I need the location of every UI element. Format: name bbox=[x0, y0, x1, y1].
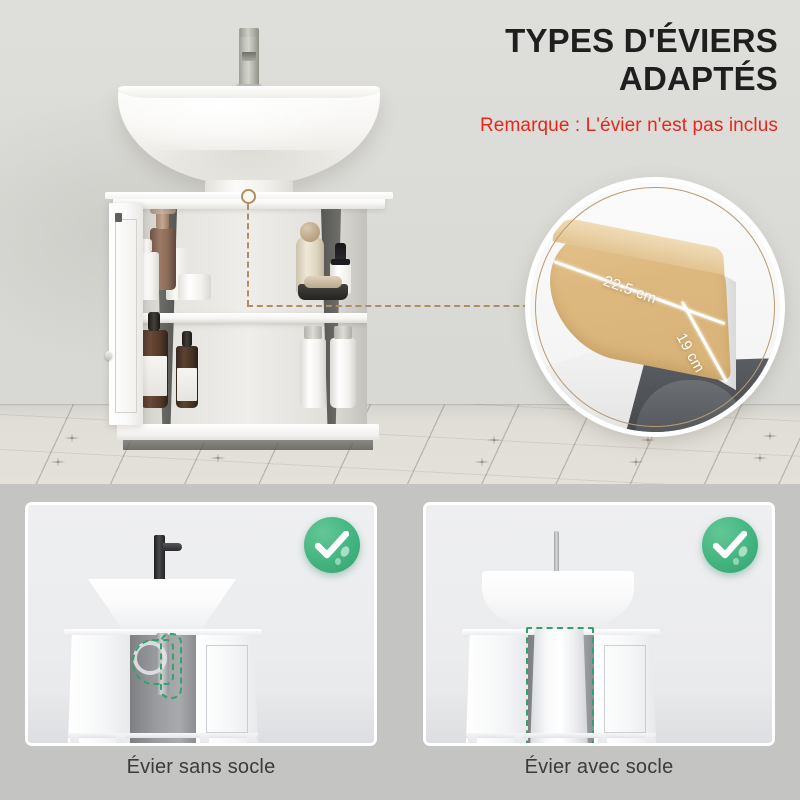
tile-intersection-marker bbox=[207, 447, 229, 469]
tile-intersection-marker bbox=[749, 447, 771, 469]
caption-sans-socle: Évier sans socle bbox=[25, 756, 377, 779]
sink-bowl-rim bbox=[118, 86, 380, 98]
mini-leg bbox=[247, 733, 256, 746]
comparison-panel-sans-socle bbox=[25, 502, 377, 746]
toiletry-amber-bottle-small bbox=[176, 346, 198, 408]
badge-gloss-small bbox=[733, 558, 739, 565]
highlight-outline-pipe bbox=[160, 633, 182, 699]
faucet-cap bbox=[240, 28, 258, 37]
highlight-outline-pedestal bbox=[526, 627, 594, 746]
comparison-section: Évier sans socle bbox=[0, 484, 800, 800]
faucet-spout bbox=[242, 52, 256, 61]
mini-leg bbox=[645, 733, 654, 746]
infographic-root: 22.5 cm 19 cm TYPES D'ÉVIERS ADAPTÉS Rem… bbox=[0, 0, 800, 800]
mini-legs-group bbox=[466, 733, 656, 746]
mini-legs-group bbox=[68, 733, 258, 746]
toiletry-white-bottle-2 bbox=[330, 338, 356, 408]
callout-leader-vertical bbox=[247, 204, 249, 306]
mini-leg bbox=[514, 733, 523, 746]
mini-cabinet-right bbox=[196, 635, 258, 743]
page-title-line-1: TYPES D'ÉVIERS bbox=[400, 22, 778, 60]
mini-leg bbox=[598, 733, 607, 746]
tile-intersection-marker bbox=[47, 451, 69, 473]
mini-sink-bowl bbox=[482, 571, 634, 633]
mini-leg bbox=[70, 733, 79, 746]
comparison-panel-avec-socle bbox=[423, 502, 775, 746]
status-badge-approved bbox=[304, 517, 360, 573]
mini-cabinet-right bbox=[594, 635, 656, 743]
hero-product-scene: 22.5 cm 19 cm TYPES D'ÉVIERS ADAPTÉS Rem… bbox=[0, 0, 800, 484]
door-knob bbox=[105, 351, 112, 360]
tile-intersection-marker bbox=[625, 451, 647, 473]
mini-leg bbox=[200, 733, 209, 746]
mini-sink-bowl bbox=[88, 579, 236, 631]
callout-leader-horizontal bbox=[247, 305, 539, 307]
badge-gloss-small bbox=[335, 558, 341, 565]
tile-intersection-marker bbox=[637, 429, 659, 451]
mini-cabinet-left bbox=[466, 635, 528, 743]
tile-intersection-marker bbox=[61, 427, 83, 449]
door-inset-panel bbox=[115, 219, 137, 413]
faucet bbox=[239, 28, 259, 90]
toiletry-white-bottle-1 bbox=[300, 338, 326, 408]
callout-origin-marker bbox=[241, 189, 256, 204]
cabinet-base-shadow bbox=[123, 440, 373, 450]
disclaimer-note: Remarque : L'évier n'est pas inclus bbox=[360, 115, 778, 137]
mini-leg bbox=[468, 733, 477, 746]
page-title: TYPES D'ÉVIERS ADAPTÉS bbox=[400, 22, 778, 99]
mini-leg-rail bbox=[68, 733, 258, 738]
toiletry-soap-bar bbox=[304, 276, 342, 288]
door-hinge bbox=[115, 213, 122, 222]
cabinet-shelf bbox=[131, 313, 367, 323]
page-title-line-2: ADAPTÉS bbox=[400, 60, 778, 98]
tile-intersection-marker bbox=[471, 451, 493, 473]
tile-intersection-marker bbox=[483, 429, 505, 451]
toiletry-cream-jar bbox=[178, 274, 211, 300]
mini-faucet-black bbox=[154, 535, 165, 583]
mini-leg-rail bbox=[466, 733, 656, 738]
dimension-callout-circle: 22.5 cm 19 cm bbox=[530, 182, 780, 432]
cabinet-door-left bbox=[109, 203, 143, 425]
mini-leg bbox=[116, 733, 125, 746]
caption-avec-socle: Évier avec socle bbox=[423, 756, 775, 779]
toiletry-amber-bottle-large bbox=[140, 330, 168, 408]
status-badge-approved bbox=[702, 517, 758, 573]
toiletry-vase-stopper bbox=[300, 222, 320, 242]
mini-cabinet-left bbox=[68, 635, 130, 743]
